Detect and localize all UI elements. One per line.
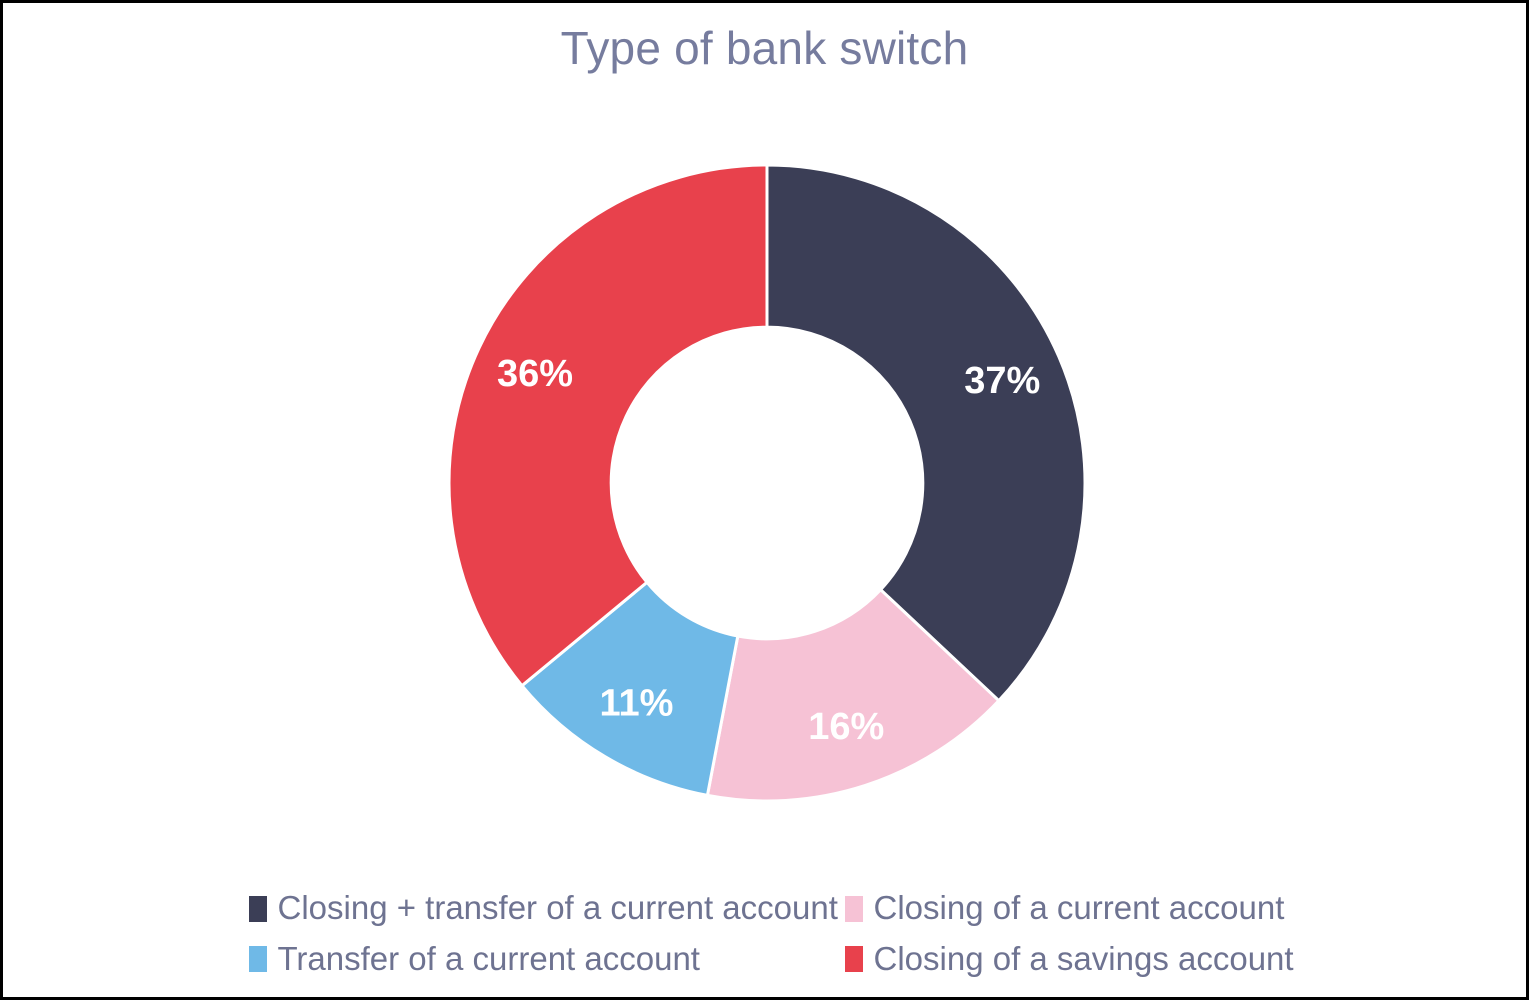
donut-slice-label: 37% — [964, 360, 1040, 402]
donut-slices — [449, 165, 1085, 801]
legend-row-2: Transfer of a current account Closing of… — [3, 941, 1526, 977]
donut-slice-label: 11% — [600, 683, 674, 725]
legend-item-closing-current[interactable]: Closing of a current account — [845, 890, 1325, 926]
legend-item-closing-savings[interactable]: Closing of a savings account — [845, 941, 1325, 977]
donut-chart[interactable]: 37%16%11%36% — [443, 159, 1091, 807]
legend-label-transfer-current: Transfer of a current account — [278, 941, 700, 977]
donut-slice[interactable] — [449, 165, 767, 686]
legend-label-closing-savings: Closing of a savings account — [874, 941, 1294, 977]
chart-title: Type of bank switch — [3, 21, 1526, 76]
legend-swatch-transfer-current — [249, 946, 267, 972]
donut-chart-area: 37%16%11%36% — [3, 3, 1529, 1003]
chart-frame: Type of bank switch 37%16%11%36% Closing… — [0, 0, 1529, 1000]
legend-swatch-closing-current — [845, 896, 863, 922]
donut-slice-label: 16% — [808, 706, 884, 748]
legend-swatch-closing-transfer-current — [249, 896, 267, 922]
donut-slice-label: 36% — [497, 353, 573, 395]
legend-swatch-closing-savings — [845, 946, 863, 972]
chart-legend: Closing + transfer of a current account … — [3, 890, 1526, 977]
legend-item-transfer-current[interactable]: Transfer of a current account — [205, 941, 845, 977]
donut-slice[interactable] — [767, 165, 1085, 701]
legend-row-1: Closing + transfer of a current account … — [3, 890, 1526, 926]
legend-label-closing-current: Closing of a current account — [874, 890, 1285, 926]
legend-item-closing-transfer-current[interactable]: Closing + transfer of a current account — [205, 890, 845, 926]
legend-label-closing-transfer-current: Closing + transfer of a current account — [278, 890, 838, 926]
